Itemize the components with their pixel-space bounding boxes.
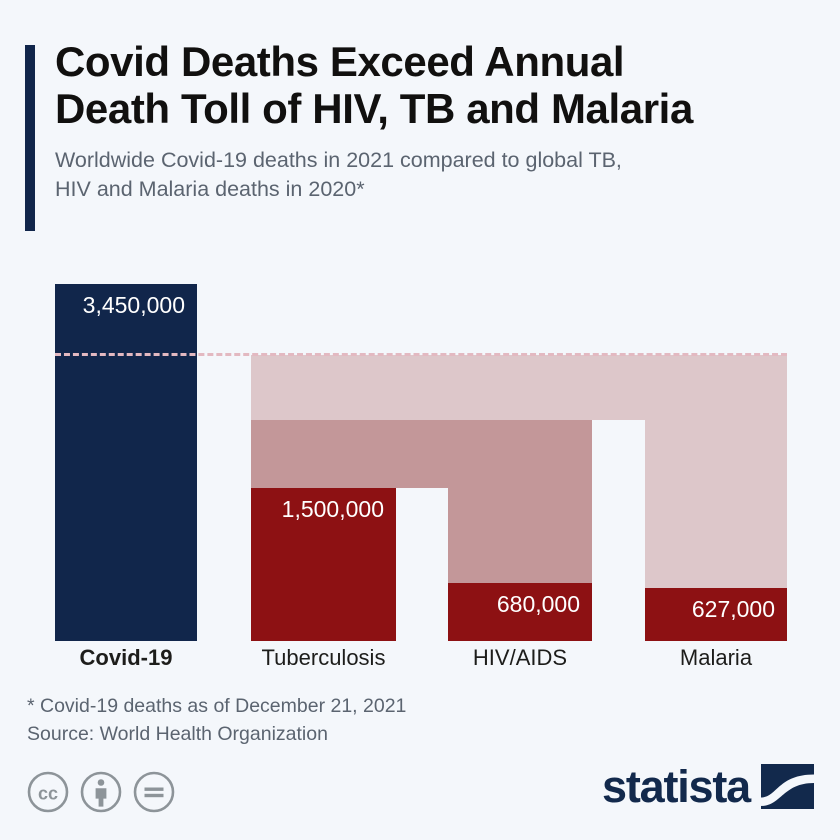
page-subtitle: Worldwide Covid-19 deaths in 2021 compar… bbox=[55, 146, 830, 203]
source-text: Source: World Health Organization bbox=[27, 720, 627, 748]
statista-wordmark: statista bbox=[602, 764, 750, 809]
cumulative-band-light-malaria bbox=[645, 355, 787, 588]
footnote-text: * Covid-19 deaths as of December 21, 202… bbox=[27, 692, 627, 720]
attribution-icon[interactable] bbox=[79, 770, 123, 814]
bar-chart: 3,450,000 1,500,000 680,000 627,000 Covi… bbox=[0, 270, 840, 680]
bar-value-hiv-aids: 680,000 bbox=[497, 591, 580, 618]
statista-logo[interactable]: statista bbox=[602, 764, 814, 809]
chart-plot-area: 3,450,000 1,500,000 680,000 627,000 bbox=[0, 270, 840, 641]
title-accent-bar bbox=[25, 45, 35, 231]
bar-hiv-aids[interactable]: 680,000 bbox=[448, 583, 592, 641]
creative-commons-icon[interactable]: cc bbox=[26, 770, 70, 814]
bar-tuberculosis[interactable]: 1,500,000 bbox=[251, 488, 396, 641]
page-title: Covid Deaths Exceed Annual Death Toll of… bbox=[55, 38, 830, 133]
svg-text:cc: cc bbox=[38, 784, 58, 804]
axis-label-hiv-aids: HIV/AIDS bbox=[448, 645, 592, 671]
license-icons: cc bbox=[26, 770, 176, 814]
bar-covid-19[interactable]: 3,450,000 bbox=[55, 284, 197, 641]
bar-value-covid-19: 3,450,000 bbox=[83, 292, 185, 319]
bar-value-malaria: 627,000 bbox=[692, 596, 775, 623]
axis-label-malaria: Malaria bbox=[645, 645, 787, 671]
category-axis: Covid-19 Tuberculosis HIV/AIDS Malaria bbox=[0, 645, 840, 679]
statista-mark-icon bbox=[761, 764, 814, 809]
axis-label-covid-19: Covid-19 bbox=[55, 645, 197, 671]
axis-label-tuberculosis: Tuberculosis bbox=[251, 645, 396, 671]
bar-malaria[interactable]: 627,000 bbox=[645, 588, 787, 641]
bar-value-tuberculosis: 1,500,000 bbox=[282, 496, 384, 523]
covid-reference-dashed-line bbox=[55, 353, 787, 356]
footnotes: * Covid-19 deaths as of December 21, 202… bbox=[27, 692, 627, 749]
title-block: Covid Deaths Exceed Annual Death Toll of… bbox=[55, 38, 830, 203]
header: Covid Deaths Exceed Annual Death Toll of… bbox=[0, 0, 840, 250]
cumulative-band-medium-hiv bbox=[448, 420, 592, 583]
no-derivatives-icon[interactable] bbox=[132, 770, 176, 814]
